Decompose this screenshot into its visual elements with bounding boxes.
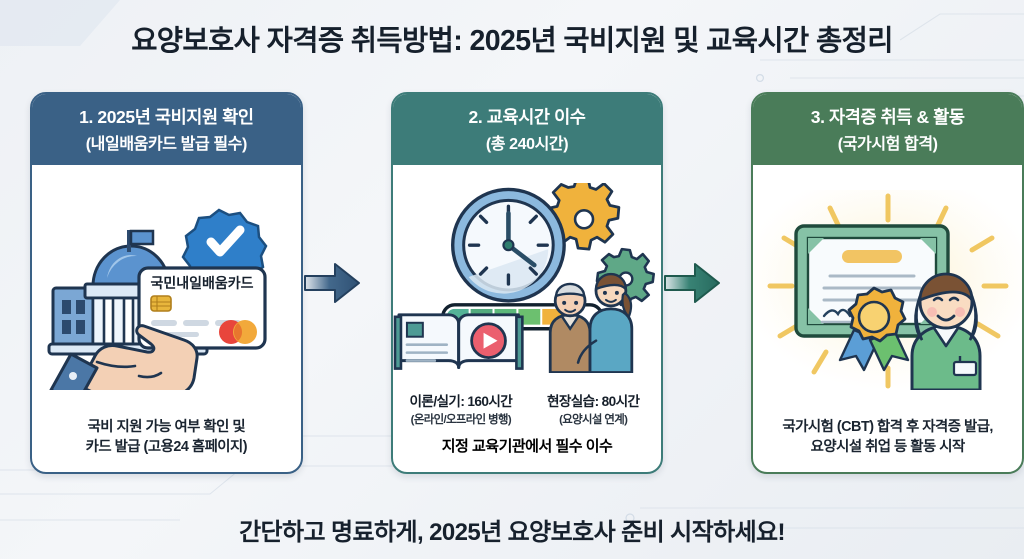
card-chip bbox=[151, 296, 171, 311]
step-1-header-line1: 1. 2025년 국비지원 확인 bbox=[38, 104, 295, 129]
step-1-footer: 국비 지원 가능 여부 확인 및 카드 발급 (고용24 홈페이지) bbox=[32, 414, 301, 472]
page-title: 요양보호사 자격증 취득방법: 2025년 국비지원 및 교육시간 총정리 bbox=[0, 18, 1024, 59]
step-card-2[interactable]: 2. 교육시간 이수 (총 240시간) bbox=[391, 92, 664, 474]
step-2-footer: 지정 교육기관에서 필수 이수 bbox=[393, 431, 662, 472]
page-title-text: 요양보호사 자격증 취득방법: 2025년 국비지원 및 교육시간 총정리 bbox=[0, 18, 1024, 59]
play-button-icon bbox=[471, 323, 505, 357]
stat-theory-sub: (온라인/오프라인 병행) bbox=[399, 411, 523, 427]
stat-theory-title: 이론/실기: 160시간 bbox=[399, 390, 523, 410]
stat-practicum-title: 현장실습: 80시간 bbox=[531, 390, 655, 410]
card-label-text: 국민내일배움카드 bbox=[151, 275, 254, 291]
step-3-header-line2: (국가시험 합격) bbox=[759, 130, 1016, 154]
step-3-header-line1: 3. 자격증 취득 & 활동 bbox=[759, 104, 1016, 129]
step-2-footer-line1: 지정 교육기관에서 필수 이수 bbox=[401, 437, 654, 458]
bottom-banner: 간단하고 명료하게, 2025년 요양보호사 준비 시작하세요! bbox=[0, 512, 1024, 547]
step-3-illustration bbox=[753, 165, 1022, 414]
steps-row: 1. 2025년 국비지원 확인 (내일배움카드 발급 필수) bbox=[0, 92, 1024, 474]
step-1-illustration: 국민내일배움카드 bbox=[32, 165, 301, 414]
step-2-header: 2. 교육시간 이수 (총 240시간) bbox=[393, 94, 662, 165]
elderly-person-icon bbox=[550, 284, 590, 373]
arrow-step2-to-step3 bbox=[663, 92, 721, 474]
step-1-footer-line2: 카드 발급 (고용24 홈페이지) bbox=[40, 438, 293, 458]
step-1-header: 1. 2025년 국비지원 확인 (내일배움카드 발급 필수) bbox=[32, 94, 301, 165]
step-2-illustration bbox=[393, 165, 662, 390]
caregiver-portrait-icon bbox=[912, 274, 980, 390]
step-1-header-line2: (내일배움카드 발급 필수) bbox=[38, 130, 295, 154]
stat-practicum: 현장실습: 80시간 (요양시설 연계) bbox=[531, 390, 655, 427]
step-card-1[interactable]: 1. 2025년 국비지원 확인 (내일배움카드 발급 필수) bbox=[30, 92, 303, 474]
step-3-footer: 국가시험 (CBT) 합격 후 자격증 발급, 요양시설 취업 등 활동 시작 bbox=[753, 414, 1022, 472]
stat-theory: 이론/실기: 160시간 (온라인/오프라인 병행) bbox=[399, 390, 523, 427]
step-1-footer-line1: 국비 지원 가능 여부 확인 및 bbox=[40, 418, 293, 438]
step-3-footer-line1: 국가시험 (CBT) 합격 후 자격증 발급, bbox=[761, 418, 1014, 438]
step-2-stats: 이론/실기: 160시간 (온라인/오프라인 병행) 현장실습: 80시간 (요… bbox=[393, 390, 662, 431]
open-book-icon bbox=[395, 314, 522, 368]
step-2-header-line1: 2. 교육시간 이수 bbox=[399, 104, 656, 129]
step-3-header: 3. 자격증 취득 & 활동 (국가시험 합격) bbox=[753, 94, 1022, 165]
step-3-footer-line2: 요양시설 취업 등 활동 시작 bbox=[761, 438, 1014, 458]
stat-practicum-sub: (요양시설 연계) bbox=[531, 411, 655, 427]
bottom-banner-text: 간단하고 명료하게, 2025년 요양보호사 준비 시작하세요! bbox=[0, 512, 1024, 547]
step-card-3[interactable]: 3. 자격증 취득 & 활동 (국가시험 합격) bbox=[751, 92, 1024, 474]
step-2-header-line2: (총 240시간) bbox=[399, 130, 656, 154]
clock-icon bbox=[452, 189, 563, 300]
name-badge bbox=[954, 362, 976, 375]
mastercard-logo bbox=[219, 320, 257, 344]
arrow-step1-to-step2 bbox=[303, 92, 361, 474]
